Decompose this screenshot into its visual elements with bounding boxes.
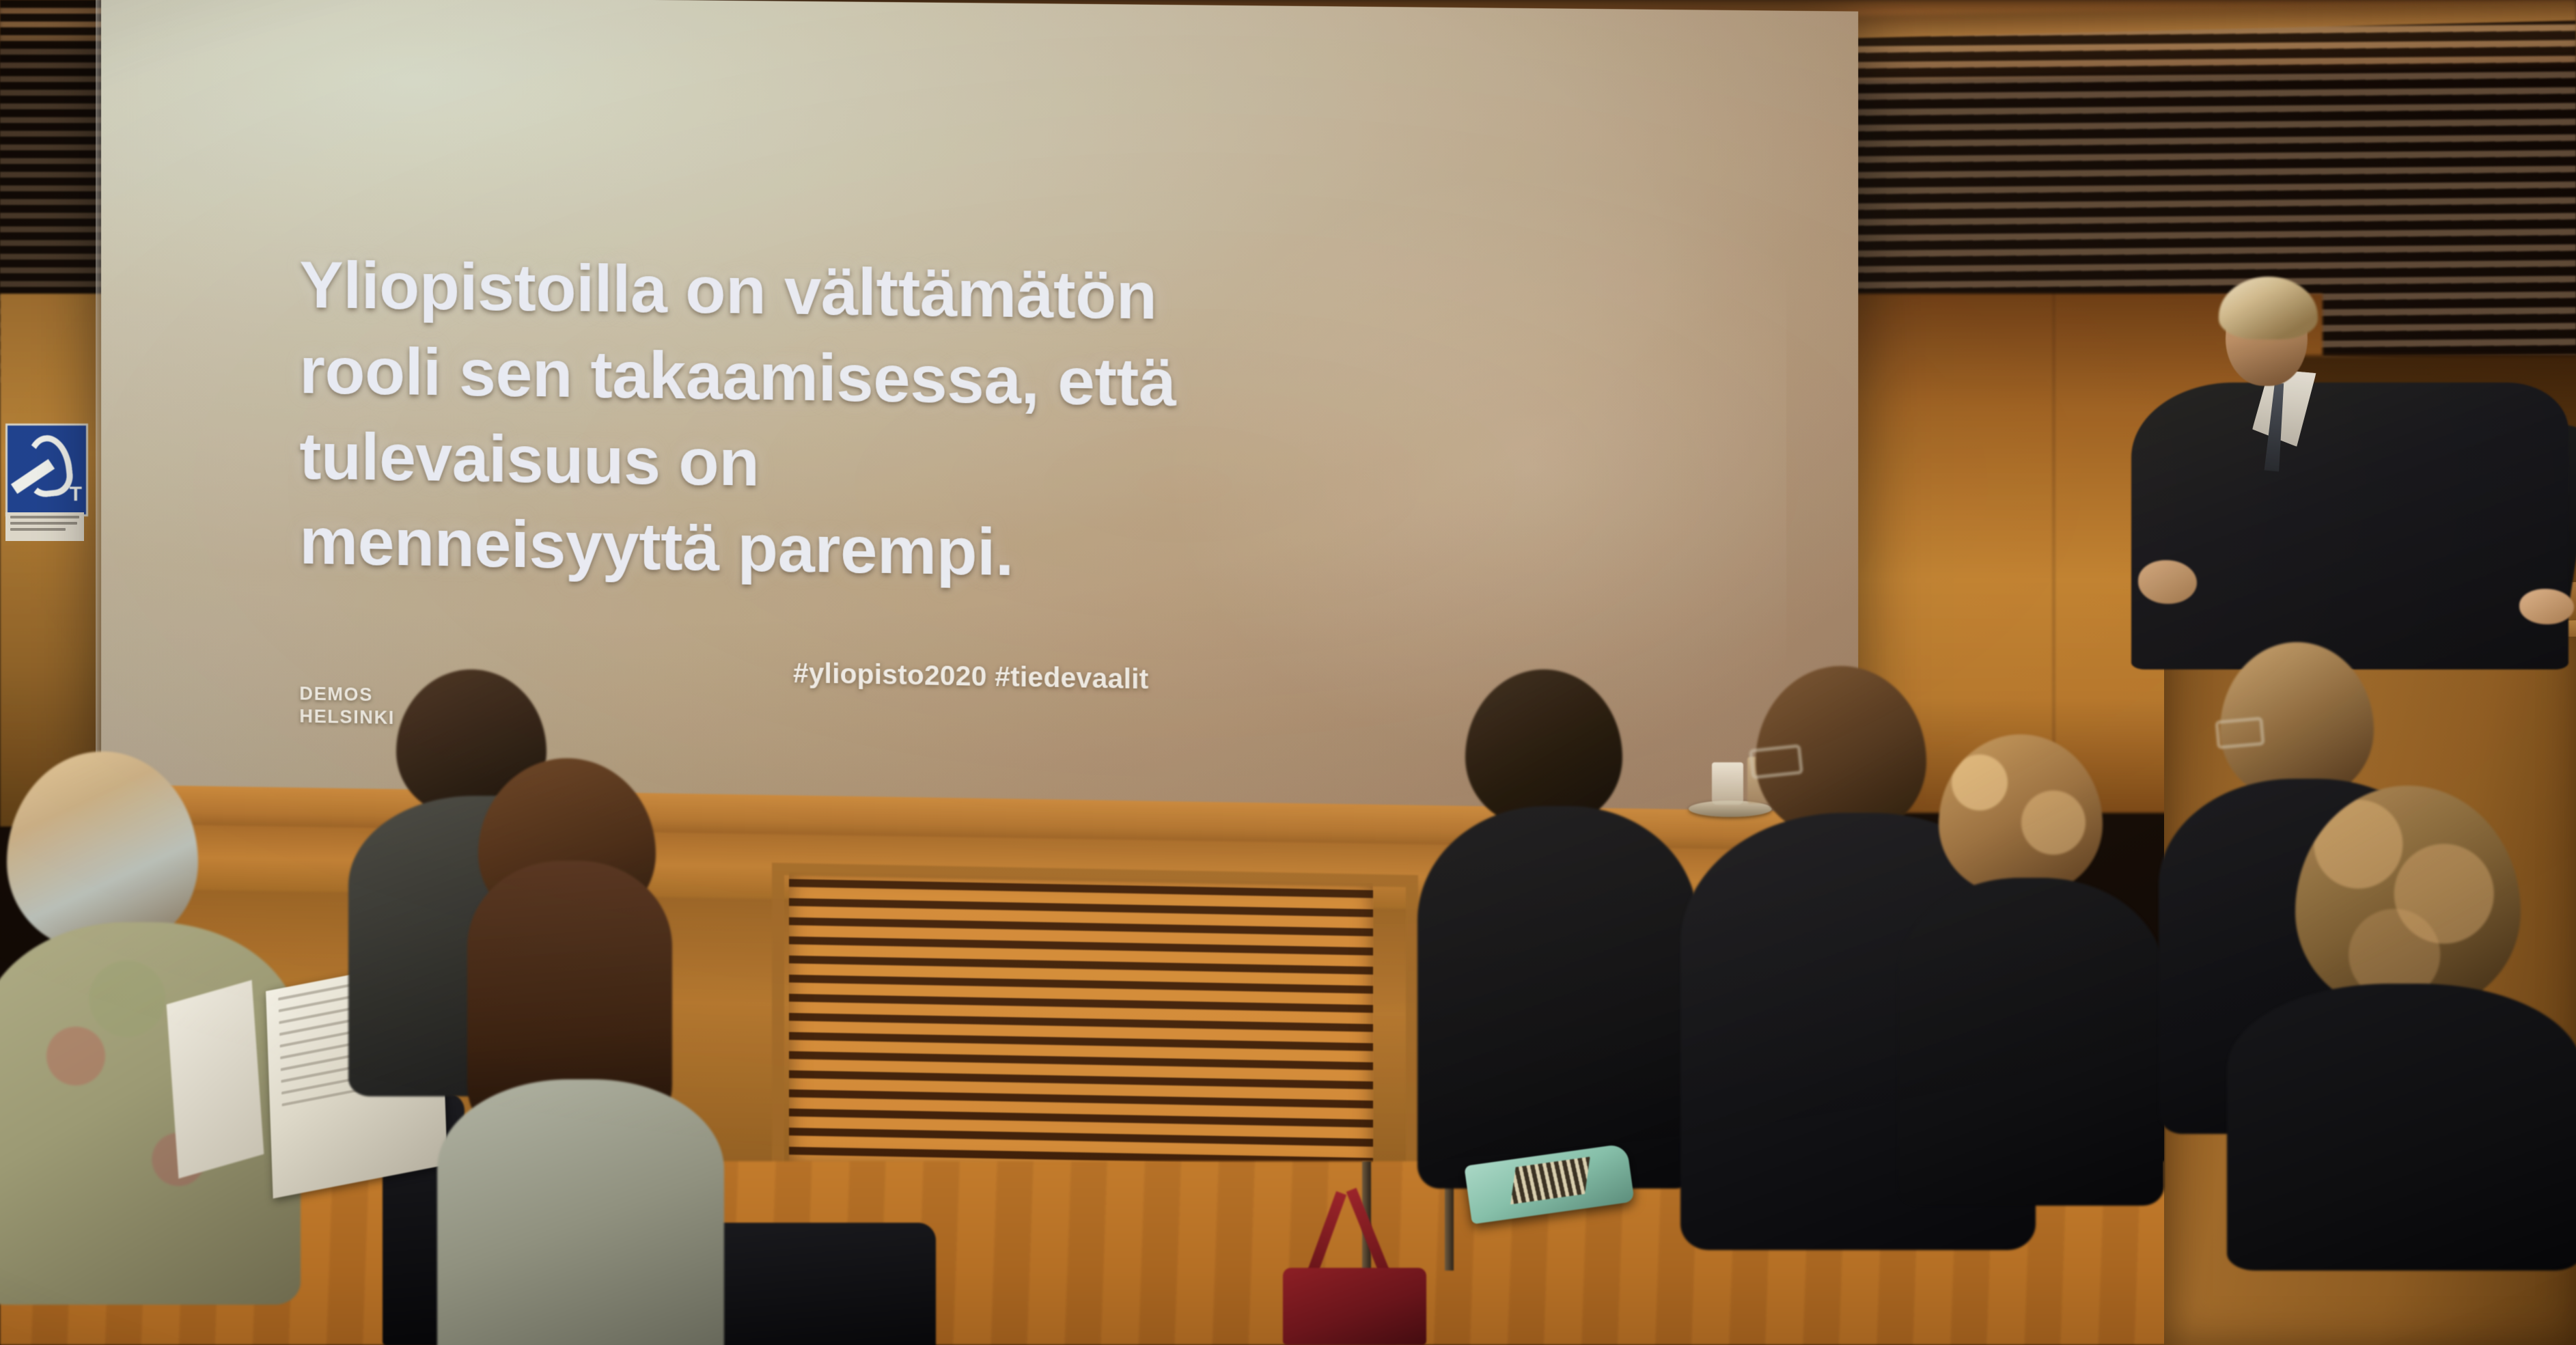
speaker-torso [2131, 383, 2568, 669]
demos-helsinki-logo: DEMOS HELSINKI [299, 682, 395, 730]
torso [1898, 878, 2164, 1206]
eyeglasses-icon [2215, 717, 2265, 749]
torso [1417, 806, 1698, 1189]
hearing-loop-caption [5, 512, 84, 541]
speaker-right-hand [2519, 589, 2574, 624]
hearing-loop-sign: T [5, 424, 88, 516]
torso [2227, 984, 2576, 1271]
speaker-left-hand [2138, 560, 2197, 604]
hearing-loop-letter: T [70, 484, 82, 505]
photo-scene: T Yliopistoilla on välttämätön rooli sen… [0, 0, 2576, 1345]
torso [437, 1079, 724, 1345]
slide-heading: Yliopistoilla on välttämätön rooli sen t… [299, 243, 1563, 606]
red-handbag [1283, 1268, 1426, 1345]
eyeglasses-icon [1749, 744, 1803, 779]
printed-papers-secondary [167, 980, 264, 1179]
wood-wall-panel-left [0, 294, 102, 827]
water-glass [1712, 762, 1743, 805]
